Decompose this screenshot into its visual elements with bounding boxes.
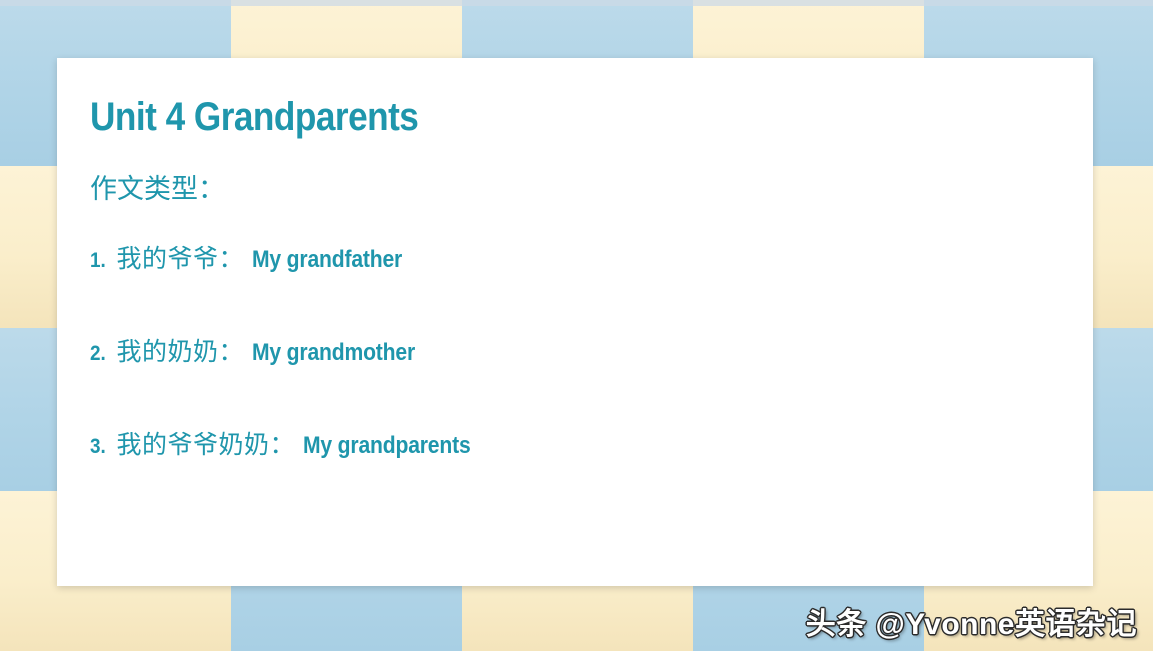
list-item-english: My grandparents [303,432,471,460]
essay-type-list: 1. 我的爷爷： My grandfather 2. 我的奶奶： My gran… [90,239,1093,518]
list-item-english: My grandfather [252,246,402,274]
list-item: 2. 我的奶奶： My grandmother [90,332,1093,425]
list-item-number: 1. [90,249,106,273]
list-item: 1. 我的爷爷： My grandfather [90,239,1093,332]
list-item-english: My grandmother [252,339,415,367]
slide-title: Unit 4 Grandparents [90,96,973,138]
list-item-chinese: 我的爷爷： [117,239,245,275]
slide-canvas: Unit 4 Grandparents 作文类型： 1. 我的爷爷： My gr… [0,0,1153,651]
slide-subtitle: 作文类型： [90,175,1093,205]
list-item: 3. 我的爷爷奶奶： My grandparents [90,425,1093,518]
content-card: Unit 4 Grandparents 作文类型： 1. 我的爷爷： My gr… [57,58,1093,586]
watermark: 头条 @Yvonne英语杂记 [806,599,1137,643]
list-item-chinese: 我的奶奶： [117,332,245,368]
list-item-number: 2. [90,342,106,366]
list-item-number: 3. [90,435,106,459]
top-edge-strip [0,0,1153,6]
list-item-chinese: 我的爷爷奶奶： [117,425,296,461]
card-inner: Unit 4 Grandparents 作文类型： 1. 我的爷爷： My gr… [57,58,1093,518]
